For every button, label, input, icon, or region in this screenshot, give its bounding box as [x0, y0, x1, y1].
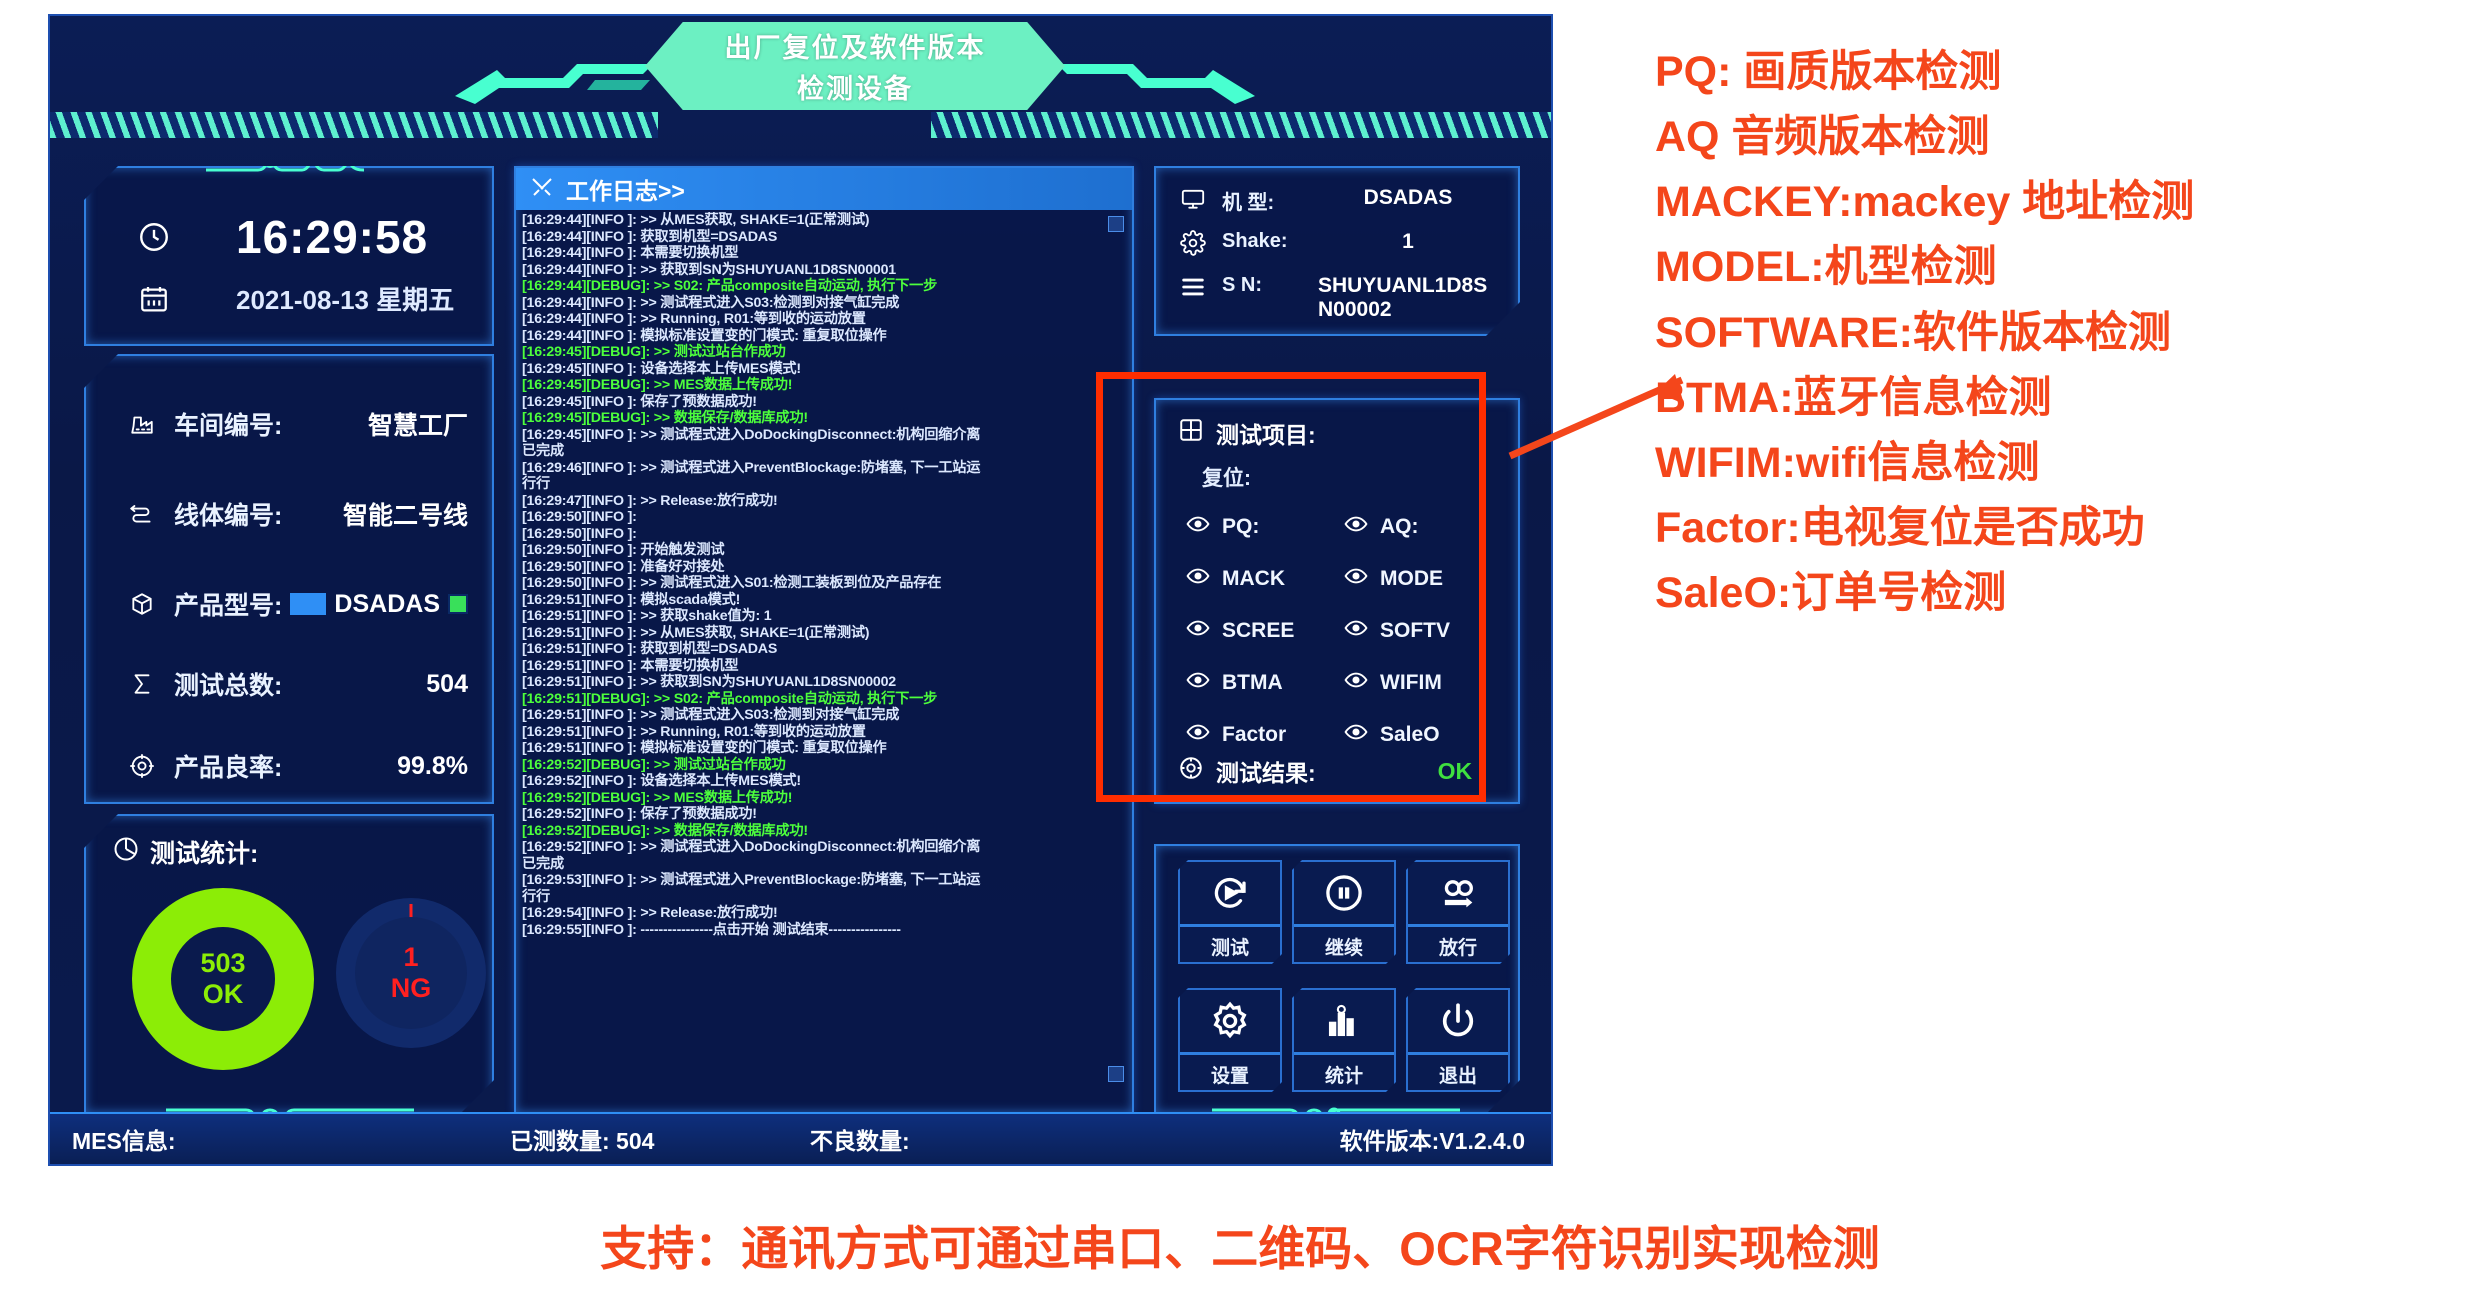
info-row-5: 产品良率:99.8%	[120, 748, 468, 784]
log-line: [16:29:51][INFO ]: >> 测试程式进入S03:检测到对接气缸完…	[522, 707, 1126, 724]
test-items-subtitle: 复位:	[1202, 462, 1251, 492]
log-line: [16:29:47][INFO ]: >> Release:放行成功!	[522, 493, 1126, 510]
work-log-title: 工作日志>>	[566, 172, 685, 206]
info-value-4: 504	[426, 670, 468, 699]
status-defect-count: 不良数量:	[810, 1122, 910, 1156]
test-item-mode[interactable]: MODE	[1344, 564, 1443, 594]
clock-row: 16:29:58	[132, 210, 428, 264]
log-line: [16:29:45][INFO ]: 设备选择本上传MES模式!	[522, 361, 1126, 378]
log-line: [16:29:51][INFO ]: >> 获取shake值为: 1	[522, 608, 1126, 625]
info-label-3: 产品型号:	[174, 586, 282, 622]
app-title-line2: 检测设备	[797, 67, 913, 106]
target-icon	[1178, 755, 1204, 787]
test-item-label: SOFTV	[1380, 619, 1450, 643]
test-items-title: 测试项目:	[1178, 416, 1316, 450]
info-value-2: 智能二号线	[343, 496, 468, 532]
eye-icon	[1186, 564, 1210, 594]
grid-icon	[1178, 417, 1204, 449]
info-row-2: 线体编号:智能二号线	[120, 496, 468, 532]
log-line: [16:29:50][INFO ]: 开始触发测试	[522, 542, 1126, 559]
log-line: [16:29:44][INFO ]: 获取到机型=DSADAS	[522, 229, 1126, 246]
annotation-list: PQ: 画质版本检测AQ 音频版本检测MACKEY:mackey 地址检测MOD…	[1655, 48, 2455, 617]
eye-icon	[1186, 512, 1210, 542]
annotation-line-9: SaleO:订单号检测	[1655, 569, 2455, 617]
annotation-line-4: MODEL:机型检测	[1655, 243, 2455, 291]
log-line: [16:29:50][INFO ]: 准备好对接处	[522, 559, 1126, 576]
gear-icon	[1209, 990, 1251, 1052]
info-label-1: 车间编号:	[174, 406, 282, 442]
log-line: 已完成	[522, 856, 1126, 873]
clock-panel: 16:29:58 2021-08-13 星期五	[84, 166, 494, 346]
device-label-1: 机 型:	[1222, 186, 1318, 215]
test-result-row: 测试结果: OK	[1178, 754, 1472, 788]
footnote-text: 支持：通讯方式可通过串口、二维码、OCR字符识别实现检测	[0, 1210, 2480, 1279]
log-line: [16:29:52][INFO ]: >> 测试程式进入DoDockingDis…	[522, 839, 1126, 856]
device-row-2: Shake:1	[1176, 230, 1498, 256]
action-button-panel: 测试继续放行设置统计退出	[1154, 844, 1520, 1114]
button-label: 退出	[1439, 1061, 1477, 1088]
model-dropdown-indicator[interactable]	[448, 594, 468, 614]
log-line: [16:29:51][DEBUG]: >> S02: 产品composite自动…	[522, 691, 1126, 708]
log-line: [16:29:52][DEBUG]: >> 数据保存/数据库成功!	[522, 823, 1126, 840]
log-line: [16:29:45][DEBUG]: >> MES数据上传成功!	[522, 377, 1126, 394]
log-line: [16:29:44][INFO ]: >> 获取到SN为SHUYUANL1D8S…	[522, 262, 1126, 279]
ng-donut-center: 1 NG	[355, 917, 467, 1029]
device-row-3: S N:SHUYUANL1D8SN00002	[1176, 274, 1498, 322]
work-log-header: 工作日志>>	[516, 168, 1132, 210]
test-item-btma[interactable]: BTMA	[1186, 668, 1283, 698]
button-underline	[1408, 924, 1508, 927]
log-line: [16:29:51][INFO ]: >> 获取到SN为SHUYUANL1D8S…	[522, 674, 1126, 691]
log-line: [16:29:44][INFO ]: 模拟标准设置变的门模式: 重复取位操作	[522, 328, 1126, 345]
test-item-label: SCREE	[1222, 619, 1294, 643]
log-line: [16:29:44][INFO ]: >> 测试程式进入S03:检测到对接气缸完…	[522, 295, 1126, 312]
log-line: [16:29:50][INFO ]: >> 测试程式进入S01:检测工装板到位及…	[522, 575, 1126, 592]
work-log-panel: 工作日志>> [16:29:44][INFO ]: >> 从MES获取, SHA…	[514, 166, 1134, 1114]
list-icon	[1176, 274, 1210, 300]
button-label: 继续	[1325, 933, 1363, 960]
button-underline	[1180, 1052, 1280, 1055]
device-row-1: 机 型:DSADAS	[1176, 186, 1498, 215]
info-label-5: 产品良率:	[174, 748, 282, 784]
log-line: [16:29:51][INFO ]: >> Running, R01:等到收的运…	[522, 724, 1126, 741]
title-bar: 出厂复位及软件版本 检测设备	[50, 16, 1551, 116]
monitor-icon	[1176, 186, 1210, 212]
button-go[interactable]: 放行	[1406, 860, 1510, 964]
test-item-label: MODE	[1380, 567, 1443, 591]
calendar-icon	[132, 283, 176, 315]
gear-icon	[1176, 230, 1210, 256]
test-item-wifim[interactable]: WIFIM	[1344, 668, 1442, 698]
info-row-3: 产品型号:DSADAS	[120, 586, 468, 622]
annotation-line-6: BTMA:蓝牙信息检测	[1655, 374, 2455, 422]
log-line: [16:29:45][INFO ]: 保存了预数据成功!	[522, 394, 1126, 411]
eye-icon	[1344, 512, 1368, 542]
hatch-strip-right	[931, 112, 1551, 138]
device-label-2: Shake:	[1222, 230, 1318, 253]
log-line: [16:29:52][DEBUG]: >> MES数据上传成功!	[522, 790, 1126, 807]
title-wing-right	[1055, 50, 1265, 96]
info-value-3: DSADAS	[334, 590, 440, 619]
ng-label: NG	[391, 973, 432, 1004]
log-line: [16:29:44][INFO ]: 本需要切换机型	[522, 245, 1126, 262]
annotation-line-7: WIFIM:wifi信息检测	[1655, 439, 2455, 487]
annotation-line-3: MACKEY:mackey 地址检测	[1655, 178, 2455, 226]
test-item-label: WIFIM	[1380, 671, 1442, 695]
log-line: [16:29:52][INFO ]: 设备选择本上传MES模式!	[522, 773, 1126, 790]
button-pause[interactable]: 继续	[1292, 860, 1396, 964]
test-result-label: 测试结果:	[1216, 754, 1316, 788]
test-items-panel: 测试项目: 复位: PQ:AQ:MACKMODESCREESOFTVBTMAWI…	[1154, 398, 1520, 804]
clock-icon	[132, 220, 176, 254]
button-label: 统计	[1325, 1061, 1363, 1088]
statistics-panel: 测试统计: 503 OK 1 NG	[84, 814, 494, 1114]
eye-icon	[1344, 564, 1368, 594]
ok-donut-center: 503 OK	[171, 927, 275, 1031]
product-info-panel: 车间编号:智慧工厂线体编号:智能二号线产品型号:DSADAS测试总数:504产品…	[84, 354, 494, 804]
button-label: 放行	[1439, 933, 1477, 960]
test-item-scree[interactable]: SCREE	[1186, 616, 1294, 646]
info-value-1: 智慧工厂	[368, 406, 468, 442]
ok-donut-chart: 503 OK	[132, 888, 314, 1070]
log-line: 行行	[522, 889, 1126, 906]
test-item-label: BTMA	[1222, 671, 1283, 695]
log-line: [16:29:44][DEBUG]: >> S02: 产品composite自动…	[522, 278, 1126, 295]
log-line: [16:29:51][INFO ]: 模拟scada模式!	[522, 592, 1126, 609]
pause-icon	[1323, 862, 1365, 924]
power-icon	[1437, 990, 1479, 1052]
refresh-play-icon	[1209, 862, 1251, 924]
test-item-saleo[interactable]: SaleO	[1344, 720, 1440, 750]
status-mes-label: MES信息:	[72, 1122, 176, 1156]
log-line: [16:29:54][INFO ]: >> Release:放行成功!	[522, 905, 1126, 922]
app-title: 出厂复位及软件版本 检测设备	[645, 22, 1065, 110]
ng-donut-chart: 1 NG	[336, 898, 486, 1048]
info-label-2: 线体编号:	[174, 496, 282, 532]
info-value-5: 99.8%	[397, 752, 468, 781]
eye-icon	[1344, 720, 1368, 750]
button-bar-chart[interactable]: 统计	[1292, 988, 1396, 1092]
log-line: [16:29:51][INFO ]: 获取到机型=DSADAS	[522, 641, 1126, 658]
work-log-lines[interactable]: [16:29:44][INFO ]: >> 从MES获取, SHAKE=1(正常…	[522, 212, 1126, 1086]
device-info-panel: 机 型:DSADASShake:1S N:SHUYUANL1D8SN00002	[1154, 166, 1520, 336]
test-item-label: MACK	[1222, 567, 1285, 591]
log-line: [16:29:50][INFO ]:	[522, 509, 1126, 526]
device-value-3: SHUYUANL1D8SN00002	[1318, 274, 1498, 322]
button-label: 测试	[1211, 933, 1249, 960]
test-item-label: AQ:	[1380, 515, 1419, 539]
info-label-4: 测试总数:	[174, 666, 282, 702]
log-line: 已完成	[522, 443, 1126, 460]
eye-icon	[1186, 720, 1210, 750]
eye-icon	[1186, 668, 1210, 698]
test-item-mack[interactable]: MACK	[1186, 564, 1285, 594]
log-line: [16:29:44][INFO ]: >> 从MES获取, SHAKE=1(正常…	[522, 212, 1126, 229]
annotation-line-8: Factor:电视复位是否成功	[1655, 504, 2455, 552]
log-line: [16:29:52][INFO ]: 保存了预数据成功!	[522, 806, 1126, 823]
log-scroll-down-button[interactable]	[1108, 1066, 1124, 1082]
log-line: [16:29:51][INFO ]: 本需要切换机型	[522, 658, 1126, 675]
eye-icon	[1344, 616, 1368, 646]
button-underline	[1408, 1052, 1508, 1055]
test-item-label: SaleO	[1380, 723, 1440, 747]
test-item-pq[interactable]: PQ:	[1186, 512, 1259, 542]
button-label: 设置	[1211, 1061, 1249, 1088]
button-underline	[1180, 924, 1280, 927]
eye-icon	[1344, 668, 1368, 698]
line-icon	[120, 501, 164, 527]
annotation-line-2: AQ 音频版本检测	[1655, 113, 2455, 161]
hatch-strip-left	[50, 112, 658, 138]
device-label-3: S N:	[1222, 274, 1318, 297]
button-underline	[1294, 1052, 1394, 1055]
test-item-factor[interactable]: Factor	[1186, 720, 1286, 750]
date-row: 2021-08-13 星期五	[132, 280, 454, 317]
log-line: [16:29:55][INFO ]: ----------------点击开始 …	[522, 922, 1126, 939]
app-title-line1: 出厂复位及软件版本	[725, 26, 986, 65]
log-line: [16:29:45][DEBUG]: >> 数据保存/数据库成功!	[522, 410, 1126, 427]
product-model-selector[interactable]: DSADAS	[290, 590, 468, 619]
info-row-1: 车间编号:智慧工厂	[120, 406, 468, 442]
statistics-title: 测试统计:	[112, 834, 258, 870]
bar-chart-icon	[1323, 990, 1365, 1052]
device-value-2: 1	[1318, 230, 1498, 254]
status-tested-count: 已测数量: 504	[510, 1122, 654, 1156]
button-refresh-play[interactable]: 测试	[1178, 860, 1282, 964]
device-value-1: DSADAS	[1318, 186, 1498, 210]
test-item-aq[interactable]: AQ:	[1344, 512, 1419, 542]
status-version: 软件版本:V1.2.4.0	[1340, 1122, 1525, 1156]
clock-date: 2021-08-13 星期五	[236, 280, 454, 317]
log-line: 行行	[522, 476, 1126, 493]
log-line: [16:29:46][INFO ]: >> 测试程式进入PreventBlock…	[522, 460, 1126, 477]
ng-count: 1	[403, 942, 418, 973]
button-gear[interactable]: 设置	[1178, 988, 1282, 1092]
button-underline	[1294, 924, 1394, 927]
log-line: [16:29:51][INFO ]: >> 从MES获取, SHAKE=1(正常…	[522, 625, 1126, 642]
ok-count: 503	[200, 948, 245, 979]
test-result-value: OK	[1438, 758, 1473, 785]
test-item-label: Factor	[1222, 723, 1286, 747]
model-color-swatch	[290, 593, 326, 615]
title-wing-left	[445, 50, 655, 96]
go-icon	[1437, 862, 1479, 924]
factory-icon	[120, 411, 164, 437]
sigma-icon	[120, 671, 164, 697]
log-line: [16:29:50][INFO ]:	[522, 526, 1126, 543]
eye-icon	[1186, 616, 1210, 646]
pie-chart-icon	[112, 835, 140, 870]
ok-label: OK	[203, 979, 244, 1010]
log-line: [16:29:44][INFO ]: >> Running, R01:等到收的运…	[522, 311, 1126, 328]
annotation-line-5: SOFTWARE:软件版本检测	[1655, 309, 2455, 357]
log-line: [16:29:52][DEBUG]: >> 测试过站台作成功	[522, 757, 1126, 774]
test-item-softv[interactable]: SOFTV	[1344, 616, 1450, 646]
test-items-title-text: 测试项目:	[1216, 416, 1316, 450]
box-icon	[120, 591, 164, 617]
info-row-4: 测试总数:504	[120, 666, 468, 702]
clock-time: 16:29:58	[236, 210, 428, 264]
tools-icon	[530, 175, 554, 204]
button-power[interactable]: 退出	[1406, 988, 1510, 1092]
annotation-line-1: PQ: 画质版本检测	[1655, 48, 2455, 96]
status-bar: MES信息: 已测数量: 504 不良数量: 软件版本:V1.2.4.0	[50, 1112, 1551, 1164]
target-icon	[120, 753, 164, 779]
log-line: [16:29:45][DEBUG]: >> 测试过站台作成功	[522, 344, 1126, 361]
statistics-title-text: 测试统计:	[150, 834, 258, 870]
log-line: [16:29:45][INFO ]: >> 测试程式进入DoDockingDis…	[522, 427, 1126, 444]
hmi-screen: 出厂复位及软件版本 检测设备 16:29:58	[48, 14, 1553, 1166]
log-line: [16:29:51][INFO ]: 模拟标准设置变的门模式: 重复取位操作	[522, 740, 1126, 757]
log-line: [16:29:53][INFO ]: >> 测试程式进入PreventBlock…	[522, 872, 1126, 889]
test-item-label: PQ:	[1222, 515, 1259, 539]
